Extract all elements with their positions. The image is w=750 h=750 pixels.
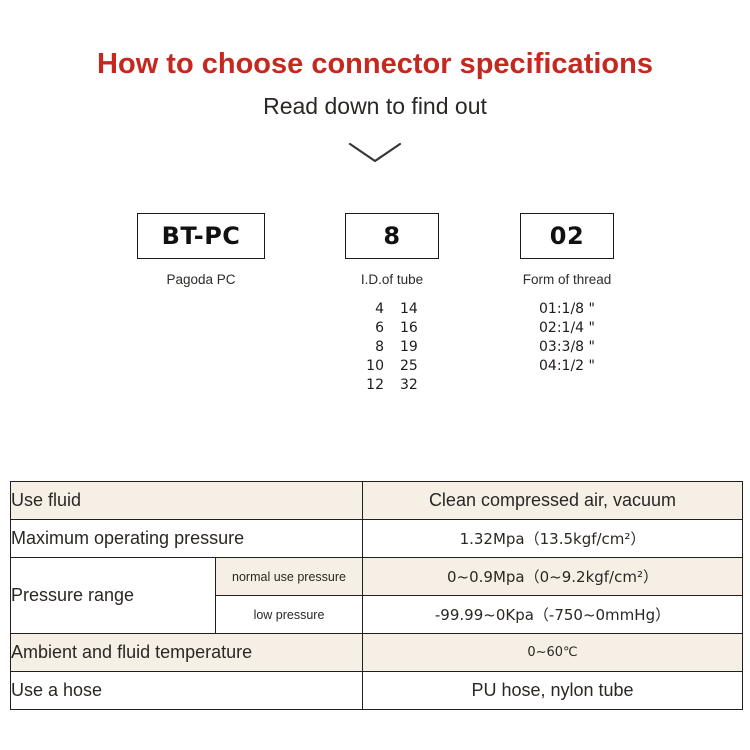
page-title: How to choose connector specifications [0, 48, 750, 81]
code-box-tube-id-value: 8 [383, 222, 400, 250]
code-box-series-value: BT-PC [162, 222, 241, 250]
list-item: 12 [366, 376, 384, 395]
spec-value-use-fluid: Clean compressed air, vacuum [363, 482, 743, 520]
list-item: 01:1/8 " [496, 300, 638, 319]
list-item: 8 [366, 338, 384, 357]
list-item: 04:1/2 " [496, 357, 638, 376]
specification-table: Use fluid Clean compressed air, vacuum M… [10, 481, 743, 710]
table-row: Pressure range normal use pressure 0~0.9… [11, 558, 743, 596]
spec-value-normal-use-pressure: 0~0.9Mpa（0~9.2kgf/cm²） [363, 558, 743, 596]
spec-label-use-a-hose: Use a hose [11, 672, 363, 710]
chevron-down-container [0, 140, 750, 171]
code-column-tube-id: 8 I.D.of tube 4 6 8 10 12 14 16 19 25 32 [345, 213, 439, 395]
list-item: 32 [400, 376, 418, 395]
code-box-tube-id: 8 [345, 213, 439, 259]
table-row: Ambient and fluid temperature 0~60℃ [11, 634, 743, 672]
spec-value-low-pressure: -99.99~0Kpa（-750~0mmHg） [363, 596, 743, 634]
tube-id-right-column: 14 16 19 25 32 [400, 300, 418, 395]
spec-value-ambient-fluid-temperature: 0~60℃ [363, 634, 743, 672]
table-row: Use a hose PU hose, nylon tube [11, 672, 743, 710]
code-column-series: BT-PC Pagoda PC [137, 213, 265, 287]
list-item: 14 [400, 300, 418, 319]
spec-label-ambient-fluid-temperature: Ambient and fluid temperature [11, 634, 363, 672]
code-box-series: BT-PC [137, 213, 265, 259]
code-option-list-thread-form: 01:1/8 " 02:1/4 " 03:3/8 " 04:1/2 " [496, 300, 638, 376]
tube-id-left-column: 4 6 8 10 12 [366, 300, 384, 395]
list-item: 6 [366, 319, 384, 338]
table-row: Maximum operating pressure 1.32Mpa（13.5k… [11, 520, 743, 558]
spec-sublabel-normal-use-pressure: normal use pressure [216, 558, 363, 596]
list-item: 10 [366, 357, 384, 376]
code-box-thread-form-value: 02 [550, 222, 584, 250]
code-caption-tube-id: I.D.of tube [345, 272, 439, 287]
spec-label-pressure-range: Pressure range [11, 558, 216, 634]
page-subtitle: Read down to find out [0, 93, 750, 120]
spec-value-max-operating-pressure: 1.32Mpa（13.5kgf/cm²） [363, 520, 743, 558]
code-option-list-tube-id: 4 6 8 10 12 14 16 19 25 32 [321, 300, 463, 395]
table-row: Use fluid Clean compressed air, vacuum [11, 482, 743, 520]
spec-label-use-fluid: Use fluid [11, 482, 363, 520]
code-caption-thread-form: Form of thread [520, 272, 614, 287]
list-item: 19 [400, 338, 418, 357]
chevron-down-icon [347, 140, 403, 171]
list-item: 02:1/4 " [496, 319, 638, 338]
spec-value-use-a-hose: PU hose, nylon tube [363, 672, 743, 710]
list-item: 25 [400, 357, 418, 376]
code-box-thread-form: 02 [520, 213, 614, 259]
code-caption-series: Pagoda PC [137, 272, 265, 287]
list-item: 03:3/8 " [496, 338, 638, 357]
spec-label-max-operating-pressure: Maximum operating pressure [11, 520, 363, 558]
code-breakdown-row: BT-PC Pagoda PC 8 I.D.of tube 4 6 8 10 1… [0, 213, 750, 413]
list-item: 4 [366, 300, 384, 319]
code-column-thread-form: 02 Form of thread 01:1/8 " 02:1/4 " 03:3… [520, 213, 614, 376]
spec-sublabel-low-pressure: low pressure [216, 596, 363, 634]
list-item: 16 [400, 319, 418, 338]
